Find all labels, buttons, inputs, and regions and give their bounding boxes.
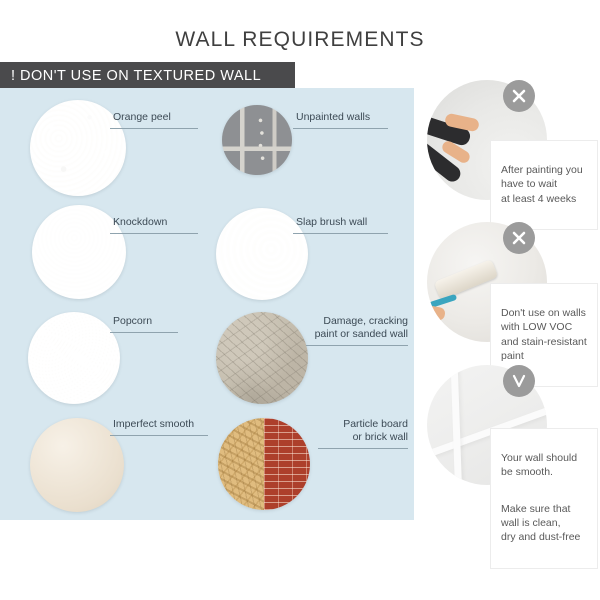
label-underline — [110, 128, 198, 129]
texture-label: Particle board or brick wall — [288, 418, 408, 444]
warning-banner: ! DON'T USE ON TEXTURED WALL — [0, 62, 295, 89]
note-card: After painting you have to wait at least… — [490, 140, 598, 230]
note-paragraph: Your wall should be smooth. — [501, 451, 588, 479]
note-paragraph: Don't use on walls with LOW VOC and stai… — [501, 306, 588, 363]
label-underline — [110, 233, 198, 234]
texture-label: Slap brush wall — [296, 216, 421, 229]
cross-icon — [503, 80, 535, 112]
label-underline — [318, 448, 408, 449]
hand-shape — [427, 304, 446, 321]
label-underline — [110, 332, 178, 333]
cross-icon — [503, 222, 535, 254]
particle-board-half — [218, 418, 264, 510]
note-paragraph: Make sure that wall is clean, dry and du… — [501, 502, 588, 545]
texture-label: Popcorn — [113, 315, 233, 328]
note-paragraph: After painting you have to wait at least… — [501, 163, 588, 206]
page-title: WALL REQUIREMENTS — [0, 28, 600, 52]
unpainted-wall-photo-swatch — [222, 105, 292, 175]
infographic-page: WALL REQUIREMENTS ! DON'T USE ON TEXTURE… — [0, 0, 600, 600]
popcorn-texture-swatch — [28, 312, 120, 404]
label-underline — [306, 345, 408, 346]
texture-label: Unpainted walls — [296, 111, 421, 124]
texture-label: Knockdown — [113, 216, 233, 229]
label-underline — [293, 233, 388, 234]
texture-label: Orange peel — [113, 111, 233, 124]
warning-banner-text: ! DON'T USE ON TEXTURED WALL — [11, 68, 261, 84]
knockdown-texture-swatch — [32, 205, 126, 299]
texture-label: Damage, cracking paint or sanded wall — [296, 315, 408, 341]
label-underline — [110, 435, 208, 436]
damaged-wall-texture-swatch — [216, 312, 308, 404]
check-icon — [503, 365, 535, 397]
imperfect-smooth-texture-swatch — [30, 418, 124, 512]
label-underline — [293, 128, 388, 129]
slap-brush-texture-swatch — [216, 208, 308, 300]
orange-peel-texture-swatch — [30, 100, 126, 196]
note-card: Your wall should be smooth. Make sure th… — [490, 428, 598, 569]
roller-shape — [434, 259, 499, 300]
wall-edge-shape — [451, 365, 463, 485]
